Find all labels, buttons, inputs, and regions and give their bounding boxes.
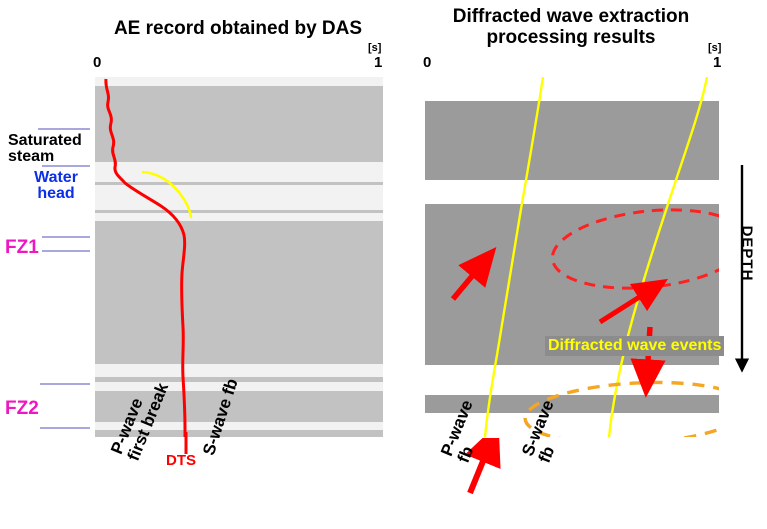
right-panel-title-line1: Diffracted wave extraction [423,6,719,27]
left-top-arrival-band [95,77,383,86]
left-water-head-band [95,185,383,210]
marker-line-water-top [42,165,90,167]
left-axis-max: 1 [374,54,382,71]
saturated-steam-line2: steam [8,149,94,165]
left-axis-min: 0 [93,54,101,71]
left-saturated-steam-band [95,162,383,182]
dts-label: DTS [166,452,196,469]
diffracted-wave-events-label: Diffracted wave events [545,336,724,356]
left-panel-title-text: AE record obtained by DAS [114,18,362,39]
right-seismic-panel[interactable] [425,77,719,437]
fz2-label: FZ2 [5,399,39,418]
depth-axis-label: DEPTH [739,224,756,284]
right-panel-title: Diffracted wave extraction processing re… [423,6,719,49]
right-top-band [425,77,719,101]
right-axis-min: 0 [423,54,431,71]
left-axis-unit: [s] [368,42,381,54]
left-panel-title: AE record obtained by DAS [88,18,388,39]
marker-line-fz1-top [42,236,90,238]
water-head-line1: Water [18,170,94,186]
marker-line-fz1-bottom [42,250,90,252]
right-panel-title-line2: processing results [423,27,719,48]
marker-line-saturated-top [38,128,90,130]
water-head-label: Water head [18,170,94,203]
right-axis-unit: [s] [708,42,721,54]
water-head-line2: head [18,186,94,202]
saturated-steam-label: Saturated steam [8,133,94,166]
fz1-label: FZ1 [5,238,39,257]
saturated-steam-line1: Saturated [8,133,94,149]
right-axis-max: 1 [713,54,721,71]
marker-line-fz2-bottom [40,427,90,429]
marker-line-fz2-top [40,383,90,385]
left-fz1-band [95,213,383,221]
